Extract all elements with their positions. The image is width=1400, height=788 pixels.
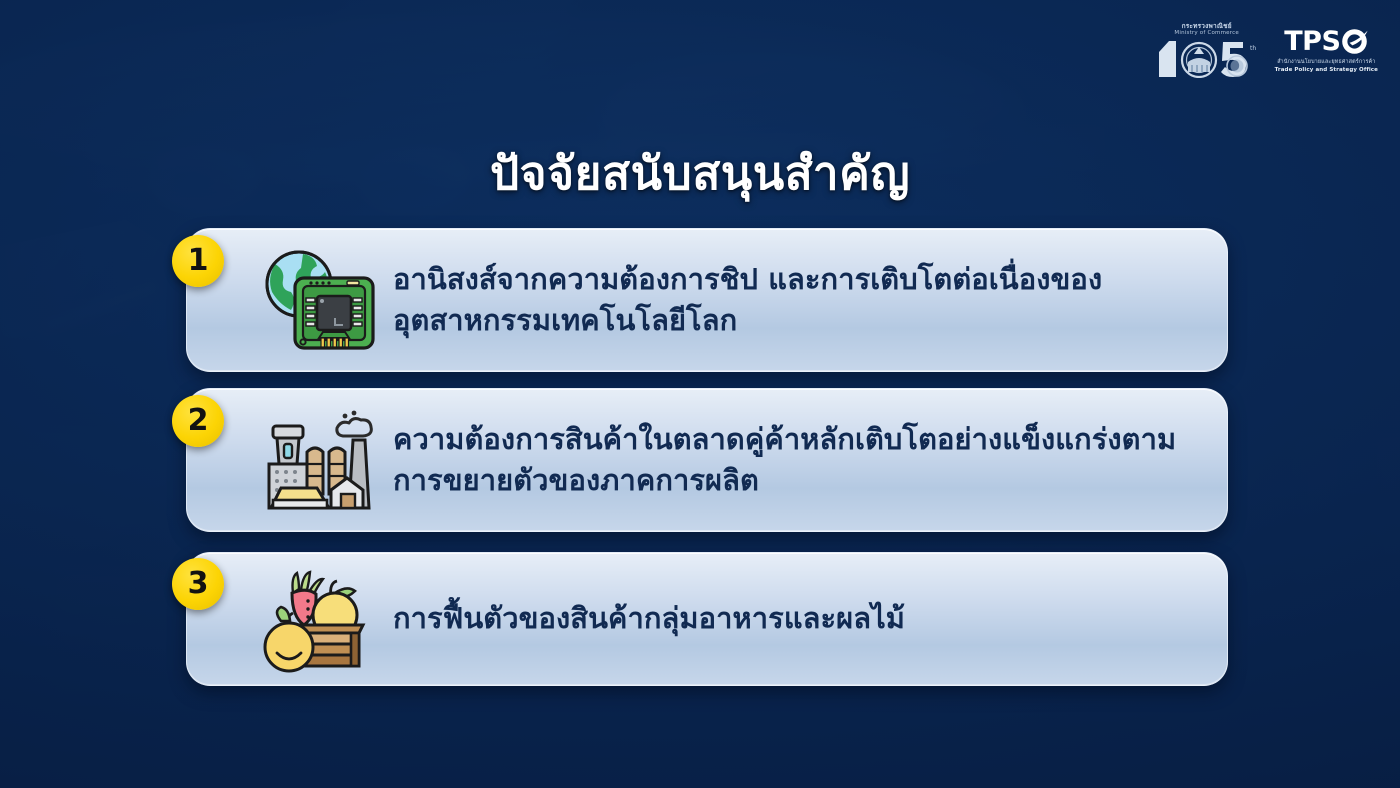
logo-bar: กระทรวงพาณิชย์ Ministry of Commerce	[1155, 22, 1378, 78]
tpso-logo: TPS สำนักงานนโยบายและยุทธศาสตร์การค้า Tr…	[1275, 28, 1378, 73]
factor-card-3-text: การฟื้นตัวของสินค้ากลุ่มอาหารและผลไม้	[393, 598, 1227, 639]
factor-card-list: อานิสงส์จากความต้องการชิป และการเติบโตต่…	[0, 0, 1400, 788]
factor-card-3: การฟื้นตัวของสินค้ากลุ่มอาหารและผลไม้	[186, 552, 1228, 686]
factor-badge-3: 3	[172, 558, 224, 610]
tpso-wordmark-text: TPS	[1284, 28, 1340, 55]
ministry-title-th: กระทรวงพาณิชย์	[1182, 22, 1232, 30]
fruit-crate-icon	[243, 563, 393, 675]
factor-card-2-text: ความต้องการสินค้าในตลาดคู่ค้าหลักเติบโตอ…	[393, 419, 1227, 501]
slide-root: กระทรวงพาณิชย์ Ministry of Commerce	[0, 0, 1400, 788]
ministry-title-en: Ministry of Commerce	[1174, 30, 1238, 37]
ministry-105-mark: th	[1155, 38, 1259, 78]
tpso-swoosh-icon	[1341, 28, 1368, 55]
globe-microchip-icon	[243, 244, 393, 356]
factor-card-1-text: อานิสงส์จากความต้องการชิป และการเติบโตต่…	[393, 259, 1227, 341]
factor-badge-1: 1	[172, 235, 224, 287]
svg-text:th: th	[1250, 45, 1256, 52]
tpso-wordmark: TPS	[1284, 28, 1368, 55]
factor-card-2: ความต้องการสินค้าในตลาดคู่ค้าหลักเติบโตอ…	[186, 388, 1228, 532]
ministry-of-commerce-logo: กระทรวงพาณิชย์ Ministry of Commerce	[1155, 22, 1259, 78]
factory-icon	[243, 404, 393, 516]
factor-badge-2: 2	[172, 395, 224, 447]
page-title: ปัจจัยสนับสนุนสำคัญ	[0, 137, 1400, 210]
factor-card-1: อานิสงส์จากความต้องการชิป และการเติบโตต่…	[186, 228, 1228, 372]
tpso-subtitle-en: Trade Policy and Strategy Office	[1275, 67, 1378, 73]
ministry-105-icon: th	[1155, 38, 1259, 78]
tpso-subtitle-th: สำนักงานนโยบายและยุทธศาสตร์การค้า	[1277, 58, 1375, 66]
